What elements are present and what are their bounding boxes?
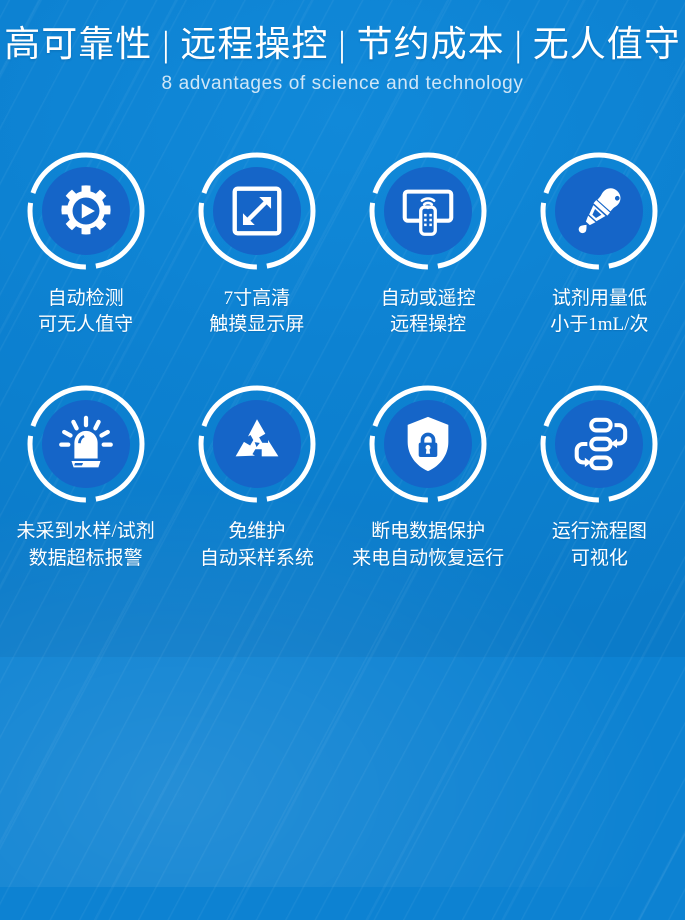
feature-caption-line1: 自动检测 [48, 288, 124, 309]
feature-badge [196, 383, 318, 505]
features-grid: 自动检测 可无人值守 [0, 150, 685, 572]
feature-caption-line2: 触摸显示屏 [209, 312, 304, 338]
feature-caption-line1: 运行流程图 [552, 521, 647, 542]
dropper-pipette-icon [568, 180, 630, 242]
features-row-2: 未采到水样/试剂 数据超标报警 [0, 383, 685, 571]
feature-caption-line1: 未采到水样/试剂 [16, 521, 154, 542]
features-row-1: 自动检测 可无人值守 [0, 150, 685, 338]
feature-caption-line2: 远程操控 [381, 312, 476, 338]
remote-control-screen-icon [397, 180, 459, 242]
feature-caption-line1: 7寸高清 [224, 288, 291, 309]
feature-badge [25, 383, 147, 505]
feature-caption-line2: 小于1mL/次 [550, 312, 648, 338]
alarm-siren-icon [55, 413, 117, 475]
feature-caption-line1: 自动或遥控 [381, 288, 476, 309]
feature-badge [25, 150, 147, 272]
shield-lock-icon [397, 413, 459, 475]
header: 高可靠性 | 远程操控 | 节约成本 | 无人值守 8 advantages o… [0, 0, 685, 120]
flowchart-icon [568, 413, 630, 475]
feature-badge [538, 150, 660, 272]
gear-play-icon [55, 180, 117, 242]
feature-caption-line2: 可无人值守 [38, 312, 133, 338]
feature-caption-line1: 断电数据保护 [371, 521, 485, 542]
feature-badge [367, 383, 489, 505]
feature-badge [367, 150, 489, 272]
feature-caption-line2: 自动采样系统 [200, 546, 314, 572]
feature-item-touch-display[interactable]: 7寸高清 触摸显示屏 [171, 150, 342, 338]
feature-caption: 试剂用量低 小于1mL/次 [550, 286, 648, 338]
feature-caption-line2: 数据超标报警 [16, 546, 154, 572]
page-subtitle: 8 advantages of science and technology [162, 73, 524, 95]
feature-caption-line1: 试剂用量低 [552, 288, 647, 309]
feature-item-remote-operation[interactable]: 自动或遥控 远程操控 [343, 150, 514, 338]
expand-screen-icon [226, 180, 288, 242]
recycle-icon [226, 413, 288, 475]
feature-item-power-protection[interactable]: 断电数据保护 来电自动恢复运行 [343, 383, 514, 571]
feature-caption-line2: 可视化 [552, 546, 647, 572]
feature-caption: 未采到水样/试剂 数据超标报警 [16, 519, 154, 571]
feature-badge [538, 383, 660, 505]
feature-caption: 免维护 自动采样系统 [200, 519, 314, 571]
page-title: 高可靠性 | 远程操控 | 节约成本 | 无人值守 [4, 24, 681, 64]
feature-caption-line1: 免维护 [228, 521, 285, 542]
feature-caption: 运行流程图 可视化 [552, 519, 647, 571]
feature-item-maintenance-free[interactable]: 免维护 自动采样系统 [171, 383, 342, 571]
feature-caption: 7寸高清 触摸显示屏 [209, 286, 304, 338]
feature-caption: 自动或遥控 远程操控 [381, 286, 476, 338]
feature-item-auto-detection[interactable]: 自动检测 可无人值守 [0, 150, 171, 338]
feature-caption: 断电数据保护 来电自动恢复运行 [352, 519, 504, 571]
feature-item-low-reagent[interactable]: 试剂用量低 小于1mL/次 [514, 150, 685, 338]
feature-caption-line2: 来电自动恢复运行 [352, 546, 504, 572]
feature-caption: 自动检测 可无人值守 [38, 286, 133, 338]
feature-item-flowchart[interactable]: 运行流程图 可视化 [514, 383, 685, 571]
feature-badge [196, 150, 318, 272]
feature-item-alarm[interactable]: 未采到水样/试剂 数据超标报警 [0, 383, 171, 571]
